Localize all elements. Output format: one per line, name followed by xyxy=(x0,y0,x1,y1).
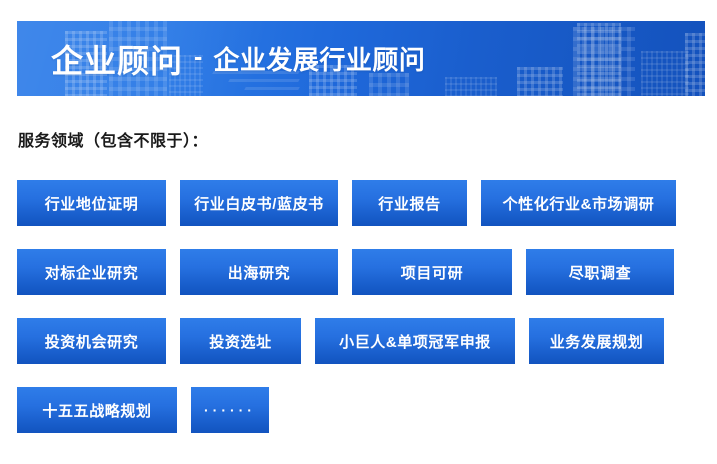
service-tag[interactable]: 尽职调查 xyxy=(526,249,674,295)
service-tag-label: 出海研究 xyxy=(228,262,290,283)
service-tag-label: 行业报告 xyxy=(378,193,440,214)
service-tag-more[interactable]: ······ xyxy=(191,387,269,433)
service-tag[interactable]: 行业报告 xyxy=(352,180,467,226)
banner-title-sub: 企业发展行业顾问 xyxy=(213,40,425,77)
service-tag-label: 行业白皮书/蓝皮书 xyxy=(194,193,324,214)
service-tag-row: 十五五战略规划······ xyxy=(17,387,707,433)
service-tag-label: 投资机会研究 xyxy=(45,331,139,352)
service-scope-label: 服务领域（包含不限于）： xyxy=(18,127,208,151)
service-tag[interactable]: 个性化行业&市场调研 xyxy=(481,180,676,226)
building-block-icon xyxy=(445,77,497,96)
service-tag-label: 投资选址 xyxy=(209,331,271,352)
header-banner: 企业顾问 - 企业发展行业顾问 xyxy=(17,21,705,96)
service-tag-label: 尽职调查 xyxy=(569,262,631,283)
service-tag[interactable]: 出海研究 xyxy=(180,249,338,295)
banner-title-dash: - xyxy=(194,43,202,72)
service-tag-row: 投资机会研究投资选址小巨人&单项冠军申报业务发展规划 xyxy=(17,318,707,364)
service-tag[interactable]: 业务发展规划 xyxy=(529,318,664,364)
service-tag[interactable]: 小巨人&单项冠军申报 xyxy=(315,318,515,364)
service-tag-label: 业务发展规划 xyxy=(550,331,644,352)
service-tag-grid: 行业地位证明行业白皮书/蓝皮书行业报告个性化行业&市场调研对标企业研究出海研究项… xyxy=(17,180,707,433)
service-tag-label: 项目可研 xyxy=(401,262,463,283)
service-tag-label: 个性化行业&市场调研 xyxy=(503,193,655,214)
service-tag-row: 对标企业研究出海研究项目可研尽职调查 xyxy=(17,249,707,295)
building-block-icon xyxy=(641,51,689,96)
service-tag[interactable]: 投资选址 xyxy=(180,318,301,364)
service-tag[interactable]: 项目可研 xyxy=(352,249,512,295)
service-tag[interactable]: 投资机会研究 xyxy=(17,318,166,364)
service-tag-row: 行业地位证明行业白皮书/蓝皮书行业报告个性化行业&市场调研 xyxy=(17,180,707,226)
service-tag-label: 行业地位证明 xyxy=(45,193,139,214)
building-block-icon xyxy=(577,23,621,96)
service-tag-label: ······ xyxy=(204,403,256,417)
service-tag[interactable]: 十五五战略规划 xyxy=(17,387,177,433)
banner-title: 企业顾问 - 企业发展行业顾问 xyxy=(51,21,425,96)
service-tag-label: 对标企业研究 xyxy=(45,262,139,283)
service-tag-label: 十五五战略规划 xyxy=(42,400,151,421)
building-block-icon xyxy=(685,33,705,96)
service-tag[interactable]: 行业白皮书/蓝皮书 xyxy=(180,180,338,226)
service-tag[interactable]: 对标企业研究 xyxy=(17,249,166,295)
banner-title-main: 企业顾问 xyxy=(51,36,183,82)
service-tag-label: 小巨人&单项冠军申报 xyxy=(339,331,491,352)
service-tag[interactable]: 行业地位证明 xyxy=(17,180,166,226)
building-block-icon xyxy=(517,67,563,96)
